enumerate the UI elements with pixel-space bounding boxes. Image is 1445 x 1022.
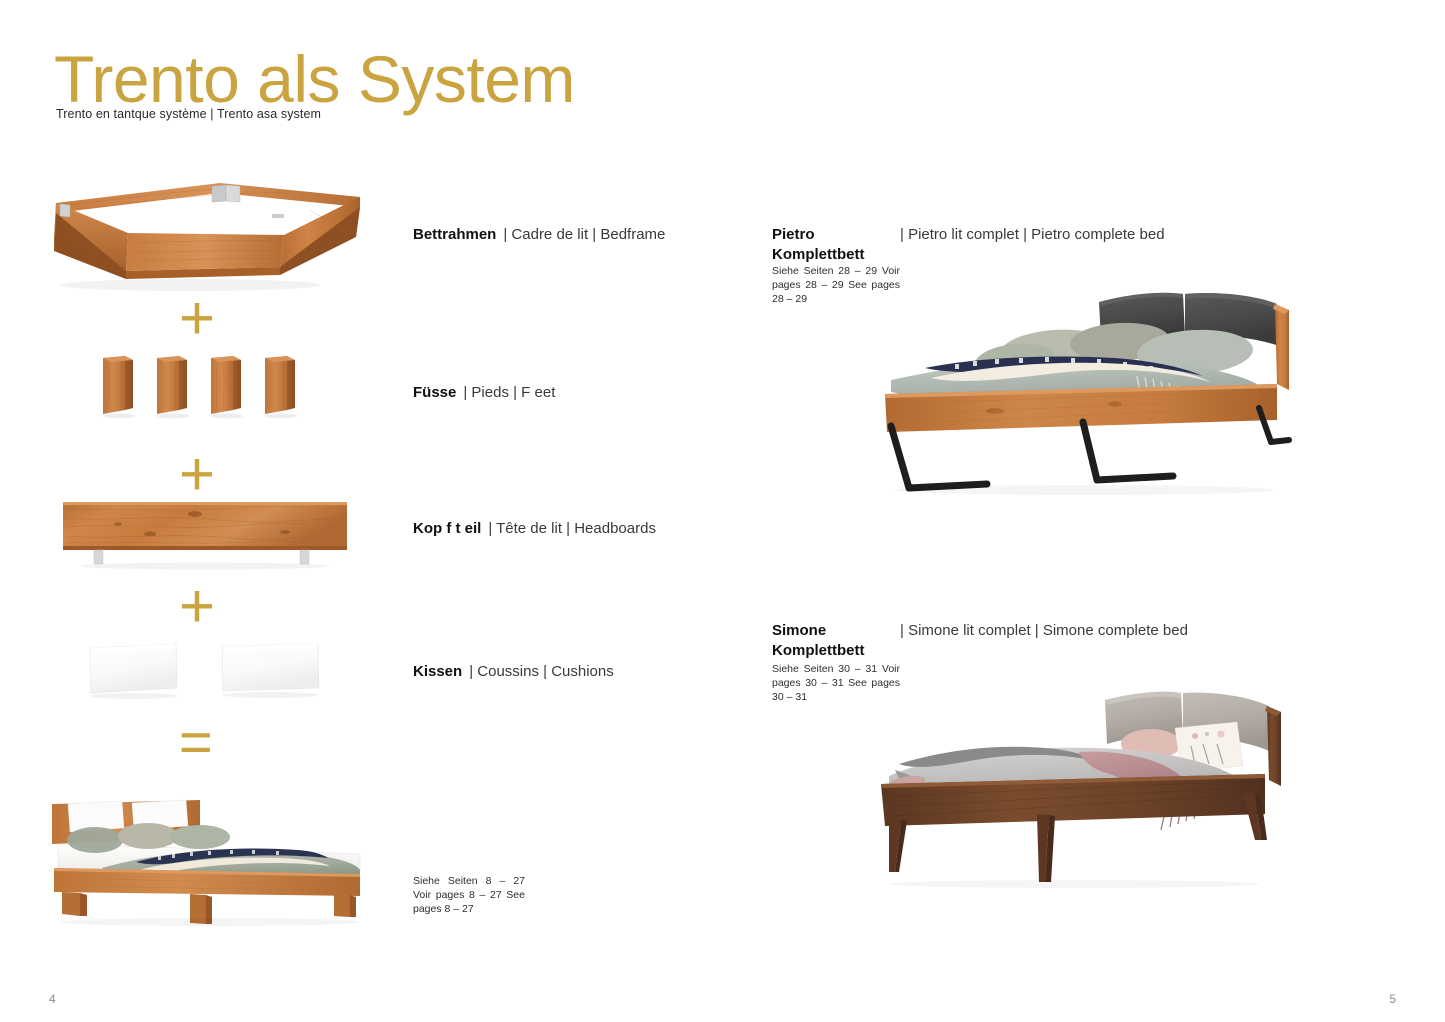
page-number-left: 4	[49, 992, 56, 1006]
bed-translations: | Simone lit complet | Simone complete b…	[900, 622, 1188, 639]
bed-translations: | Pietro lit complet | Pietro complete b…	[900, 226, 1165, 243]
page-title: Trento als System	[54, 46, 575, 112]
bed-name-line2: Komplettbett	[772, 246, 1165, 263]
bed-heading-pietro: Pietro| Pietro lit complet | Pietro comp…	[772, 226, 1165, 263]
simone-bed-image	[865, 690, 1295, 890]
component-label-feet: Füsse| Pieds | F eet	[413, 384, 555, 403]
component-term: Kop f t eil	[413, 520, 481, 537]
bed-heading-simone: Simone| Simone lit complet | Simone comp…	[772, 622, 1188, 659]
bed-name: Pietro	[772, 226, 900, 243]
bedframe-image	[40, 175, 370, 300]
component-label-cushions: Kissen| Coussins | Cushions	[413, 663, 614, 682]
result-reference: Siehe Seiten 8 – 27 Voir pages 8 – 27 Se…	[413, 874, 525, 917]
component-translations: | Tête de lit | Headboards	[488, 520, 656, 537]
component-term: Bettrahmen	[413, 226, 496, 243]
component-translations: | Cadre de lit | Bedframe	[503, 226, 665, 243]
page-number-right: 5	[1389, 992, 1396, 1006]
component-label-headboard: Kop f t eil| Tête de lit | Headboards	[413, 520, 656, 539]
component-translations: | Pieds | F eet	[463, 384, 555, 401]
feet-image	[95, 352, 310, 424]
component-label-bedframe: Bettrahmen| Cadre de lit | Bedframe	[413, 226, 665, 245]
component-term: Füsse	[413, 384, 456, 401]
bed-name-line2: Komplettbett	[772, 642, 1188, 659]
operator-plus-1: +	[178, 288, 214, 350]
page-subtitle: Trento en tantque système | Trento asa s…	[56, 107, 321, 121]
bed-name: Simone	[772, 622, 900, 639]
operator-plus-3: +	[178, 576, 214, 638]
component-term: Kissen	[413, 663, 462, 680]
pietro-bed-image	[865, 280, 1300, 495]
operator-equals: =	[178, 714, 212, 772]
component-translations: | Coussins | Cushions	[469, 663, 614, 680]
cushions-image	[80, 636, 330, 708]
trento-complete-bed-image	[40, 782, 385, 927]
headboard-image	[55, 496, 355, 572]
